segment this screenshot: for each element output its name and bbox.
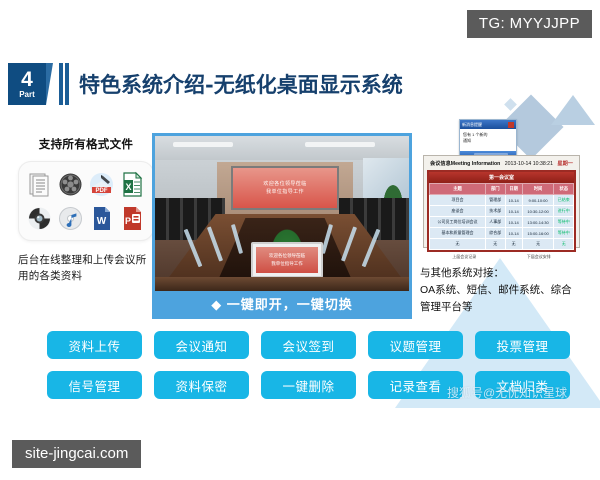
text-document-icon (26, 171, 53, 198)
feature-button[interactable]: 会议通知 (154, 331, 249, 359)
part-badge: 4 Part (8, 63, 46, 105)
desk-screen-line-1: 欢迎各位领导莅临 (269, 252, 305, 260)
table-cell: 公司员工岗位培训会议 (430, 217, 486, 228)
film-reel-icon (57, 171, 84, 198)
site-tag: site-jingcai.com (12, 440, 141, 468)
table-cell: 等待中 (554, 228, 574, 239)
photo-caption: ◆ 一键即开，一键切换 (155, 291, 409, 316)
table-row: 无无无无无 (430, 239, 574, 250)
table-cell: 无 (430, 239, 486, 250)
part-number: 4 (21, 69, 33, 90)
feature-button[interactable]: 信号管理 (47, 371, 142, 399)
table-cell: 技术部 (485, 206, 505, 217)
table-cell: 13:00-14:30 (522, 217, 554, 228)
svg-text:P: P (125, 216, 131, 226)
popup-body: 您有 1 个新的 通知 (460, 129, 516, 144)
header-divider-bar-2 (65, 63, 69, 105)
table-cell: 座谈会 (430, 206, 486, 217)
meeting-info-title: 会议信息Meeting Information (430, 160, 500, 167)
table-cell: 15:00-16:00 (522, 228, 554, 239)
close-icon[interactable] (508, 122, 514, 128)
wall-display-screen: 欢迎各位领导莅临 我单位指导工作 (231, 166, 339, 210)
file-formats-panel: 支持所有格式文件 PDF X (18, 136, 154, 285)
conference-room-image: 欢迎各位领导莅临 我单位指导工作 欢迎各位领导莅临 我单位指导工作 (155, 136, 409, 291)
file-formats-note: 后台在线整理和上传会议所用的各类资料 (18, 252, 154, 285)
table-column-header: 时间 (522, 184, 554, 195)
tg-badge: TG: MYYJJPP (467, 10, 592, 38)
table-column-header: 状态 (554, 184, 574, 195)
powerpoint-file-icon: P (119, 205, 146, 232)
slide-canvas: TG: MYYJJPP 4 Part 特色系统介绍-无纸化桌面显示系统 支持所有… (0, 0, 600, 480)
desktop-monitor-screen: 欢迎各位领导莅临 我单位指导工作 (256, 247, 318, 273)
desk-screen-line-2: 我单位指导工作 (271, 260, 303, 268)
table-cell: 10-14 (505, 228, 522, 239)
table-cell: 基本和质量管理会 (430, 228, 486, 239)
popup-title-text: 新消息提醒 (462, 122, 482, 128)
meeting-information-panel: 会议信息Meeting Information 2013-10-14 10:38… (423, 155, 580, 248)
table-row: 座谈会技术部10-1410:30-12:00进行中 (430, 206, 574, 217)
file-icons-grid: PDF X W P (25, 171, 147, 232)
decorative-triangle-small (551, 95, 595, 125)
table-column-header: 主题 (430, 184, 486, 195)
table-row: 项目会管理部10-149:00-10:00已结束 (430, 195, 574, 206)
pdf-file-icon: PDF (88, 171, 115, 198)
table-cell: 已结束 (554, 195, 574, 206)
feature-button[interactable]: 资料保密 (154, 371, 249, 399)
file-formats-title: 支持所有格式文件 (18, 136, 154, 152)
meeting-room-bar: 第一会议室 (429, 172, 574, 183)
table-cell: 项目会 (430, 195, 486, 206)
table-cell: 10-14 (505, 206, 522, 217)
slide-header: 4 Part 特色系统介绍-无纸化桌面显示系统 (8, 63, 403, 105)
page-title: 特色系统介绍-无纸化桌面显示系统 (79, 69, 403, 99)
feature-button[interactable]: 一键删除 (261, 371, 356, 399)
meeting-info-footer: 上届会议记录 下届会议安排 (427, 252, 576, 260)
excel-file-icon: X (119, 171, 146, 198)
popup-body-line-2: 通知 (463, 138, 513, 144)
integration-note-line-2: OA系统、短信、邮件系统、综合 (420, 282, 598, 299)
watermark: 搜狐号@无忧知识星球 (447, 384, 567, 401)
table-header-row: 主题部门日期时间状态 (430, 184, 574, 195)
wall-screen-line-2: 我单位指导工作 (266, 188, 304, 197)
meeting-info-weekday: 星期一 (557, 160, 573, 167)
svg-text:PDF: PDF (96, 188, 108, 194)
camera-photo-icon (26, 205, 53, 232)
part-word: Part (19, 91, 35, 99)
table-cell: 10:30-12:00 (522, 206, 554, 217)
table-cell: 9:00-10:00 (522, 195, 554, 206)
integration-note: 与其他系统对接： OA系统、短信、邮件系统、综合 管理平台等 (420, 265, 598, 315)
word-file-icon: W (88, 205, 115, 232)
desktop-lift-monitor: 欢迎各位领导莅临 我单位指导工作 (251, 242, 323, 278)
table-row: 公司员工岗位培训会议人事部10-1413:00-14:30等待中 (430, 217, 574, 228)
table-cell: 10-14 (505, 195, 522, 206)
table-cell: 管理部 (485, 195, 505, 206)
floor (155, 277, 409, 291)
table-row: 基本和质量管理会综合部10-1415:00-16:00等待中 (430, 228, 574, 239)
meeting-info-datetime: 2013-10-14 10:38:21 (505, 161, 553, 167)
table-cell: 无 (485, 239, 505, 250)
svg-text:X: X (126, 182, 132, 192)
integration-note-line-3: 管理平台等 (420, 299, 598, 316)
feature-button[interactable]: 投票管理 (475, 331, 570, 359)
ceiling (155, 136, 409, 160)
header-divider-bar-1 (59, 63, 63, 105)
integration-note-line-1: 与其他系统对接： (420, 265, 598, 282)
meeting-info-header: 会议信息Meeting Information 2013-10-14 10:38… (427, 159, 576, 170)
footer-left-label: 上届会议记录 (452, 254, 476, 260)
meeting-info-box: 第一会议室 主题部门日期时间状态 项目会管理部10-149:00-10:00已结… (427, 170, 576, 252)
table-cell: 无 (522, 239, 554, 250)
music-disc-icon (57, 205, 84, 232)
wall-screen-line-1: 欢迎各位领导莅临 (263, 180, 306, 189)
table-column-header: 部门 (485, 184, 505, 195)
meeting-schedule-table: 主题部门日期时间状态 项目会管理部10-149:00-10:00已结束座谈会技术… (429, 183, 574, 250)
table-column-header: 日期 (505, 184, 522, 195)
table-cell: 进行中 (554, 206, 574, 217)
feature-button[interactable]: 会议签到 (261, 331, 356, 359)
conference-room-photo: 欢迎各位领导莅临 我单位指导工作 欢迎各位领导莅临 我单位指导工作 (152, 133, 412, 319)
table-cell: 综合部 (485, 228, 505, 239)
table-cell: 人事部 (485, 217, 505, 228)
table-cell: 等待中 (554, 217, 574, 228)
svg-text:W: W (97, 216, 107, 227)
popup-titlebar: 新消息提醒 (460, 120, 516, 129)
footer-right-label: 下届会议安排 (527, 254, 551, 260)
feature-button[interactable]: 议题管理 (368, 331, 463, 359)
table-cell: 无 (505, 239, 522, 250)
table-cell: 无 (554, 239, 574, 250)
feature-button[interactable]: 资料上传 (47, 331, 142, 359)
file-icons-card: PDF X W P (18, 161, 154, 241)
table-cell: 10-14 (505, 217, 522, 228)
